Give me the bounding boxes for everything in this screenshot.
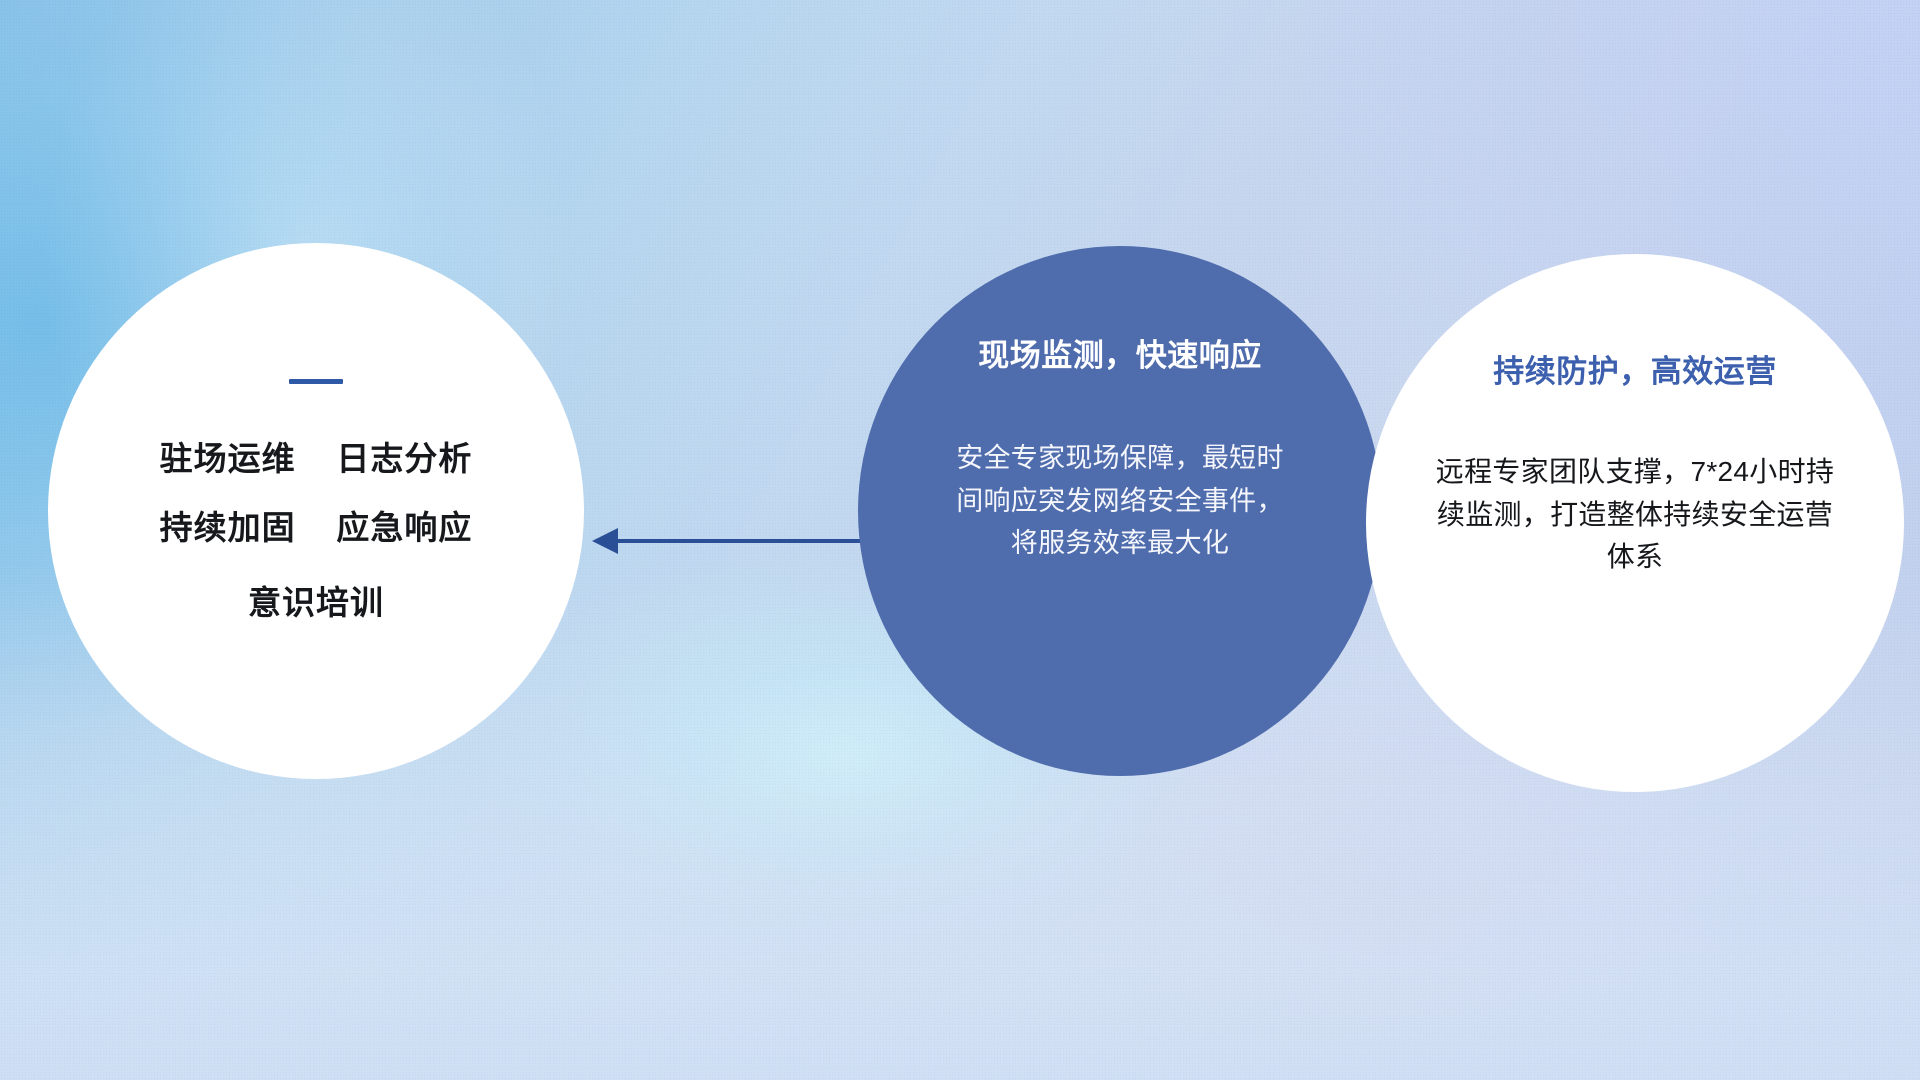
right-circle-description: 远程专家团队支撑，7*24小时持续监测，打造整体持续安全运营体系 [1435, 451, 1835, 579]
middle-circle-title: 现场监测，快速响应 [978, 330, 1262, 375]
dash-rule-decoration [289, 379, 343, 384]
capability-keyword-row: 驻场运维 日志分析 [160, 442, 473, 477]
right-circle-title: 持续防护，高效运营 [1493, 346, 1777, 391]
slide-canvas: 驻场运维 日志分析 持续加固 应急响应 意识培训 现场监测，快速响应 安全专家现… [0, 0, 1920, 1080]
flow-arrow-icon [586, 506, 896, 576]
middle-circle-description: 安全专家现场保障，最短时间响应突发网络安全事件，将服务效率最大化 [955, 437, 1285, 565]
capability-circle-left[interactable]: 驻场运维 日志分析 持续加固 应急响应 意识培训 [48, 243, 584, 779]
capability-keyword-row: 意识培训 [248, 586, 384, 621]
capability-keyword-list: 驻场运维 日志分析 持续加固 应急响应 意识培训 [48, 442, 584, 621]
capability-circle-right[interactable]: 持续防护，高效运营 远程专家团队支撑，7*24小时持续监测，打造整体持续安全运营… [1366, 254, 1904, 792]
capability-circle-middle[interactable]: 现场监测，快速响应 安全专家现场保障，最短时间响应突发网络安全事件，将服务效率最… [858, 246, 1382, 776]
capability-keyword-row: 持续加固 应急响应 [160, 511, 473, 546]
